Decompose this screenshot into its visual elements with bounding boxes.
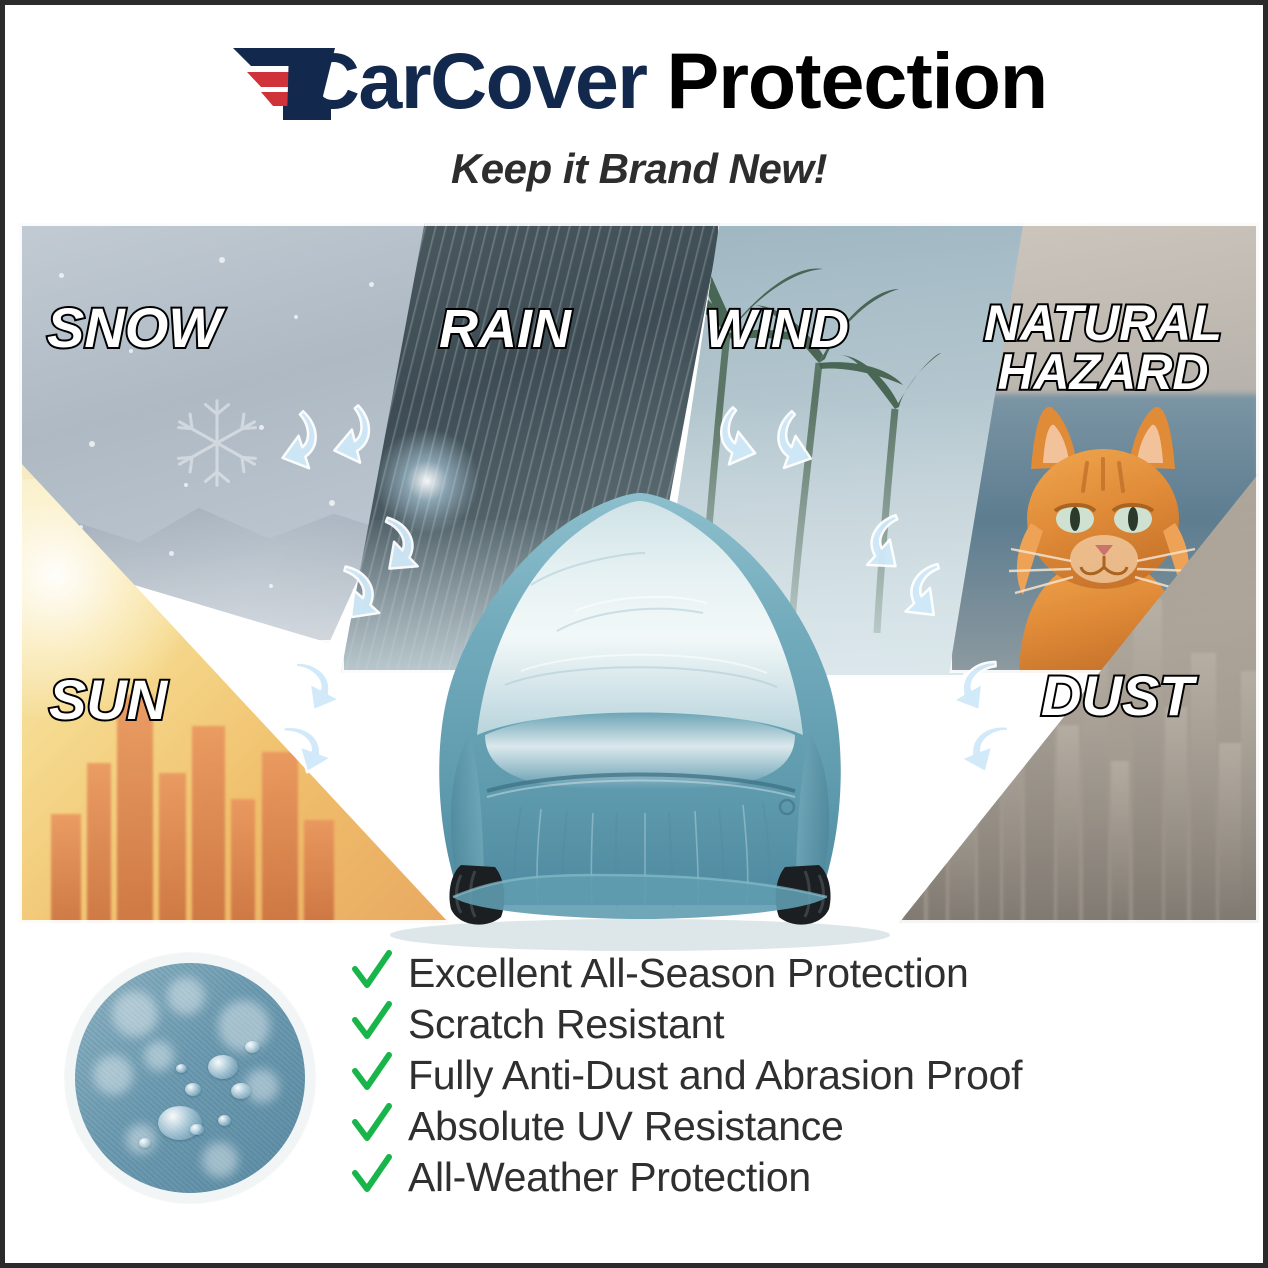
feature-item: Fully Anti-Dust and Abrasion Proof: [350, 1045, 1210, 1096]
feature-label: All-Weather Protection: [408, 1154, 811, 1201]
green-check-icon: [350, 1000, 394, 1044]
green-check-icon: [350, 1153, 394, 1197]
panel-label-sun: SUN: [49, 673, 167, 728]
brand-name: CarCover: [303, 41, 647, 120]
curved-deflect-arrow-icon: [948, 708, 1026, 783]
green-check-icon: [350, 1102, 394, 1146]
feature-label: Absolute UV Resistance: [408, 1103, 844, 1150]
feature-label: Excellent All-Season Protection: [408, 950, 968, 997]
header: CarCover Protection Keep it Brand New!: [5, 5, 1268, 210]
green-check-icon: [350, 1051, 394, 1095]
icarcover-wing-logo-icon: [231, 42, 343, 120]
panel-label-dust: DUST: [1041, 669, 1193, 724]
feature-list: Excellent All-Season Protection Scratch …: [350, 943, 1210, 1198]
feature-item: Scratch Resistant: [350, 994, 1210, 1045]
feature-label: Fully Anti-Dust and Abrasion Proof: [408, 1052, 1022, 1099]
feature-item: All-Weather Protection: [350, 1147, 1210, 1198]
features-section: Excellent All-Season Protection Scratch …: [5, 935, 1268, 1265]
feature-item: Absolute UV Resistance: [350, 1096, 1210, 1147]
water-beading-fabric-photo: [65, 953, 315, 1203]
feature-label: Scratch Resistant: [408, 1001, 724, 1048]
panel-label-natural-hazard: NATURAL HAZARD: [963, 299, 1243, 397]
tagline: Keep it Brand New!: [5, 145, 1268, 193]
brand-lockup: CarCover Protection: [5, 33, 1268, 128]
green-check-icon: [350, 949, 394, 993]
panel-label-snow: SNOW: [47, 301, 221, 356]
brand-suffix: Protection: [667, 41, 1048, 120]
panel-label-wind: WIND: [705, 303, 849, 356]
product-infographic: CarCover Protection Keep it Brand New!: [0, 0, 1268, 1268]
panel-label-rain: RAIN: [439, 303, 571, 356]
